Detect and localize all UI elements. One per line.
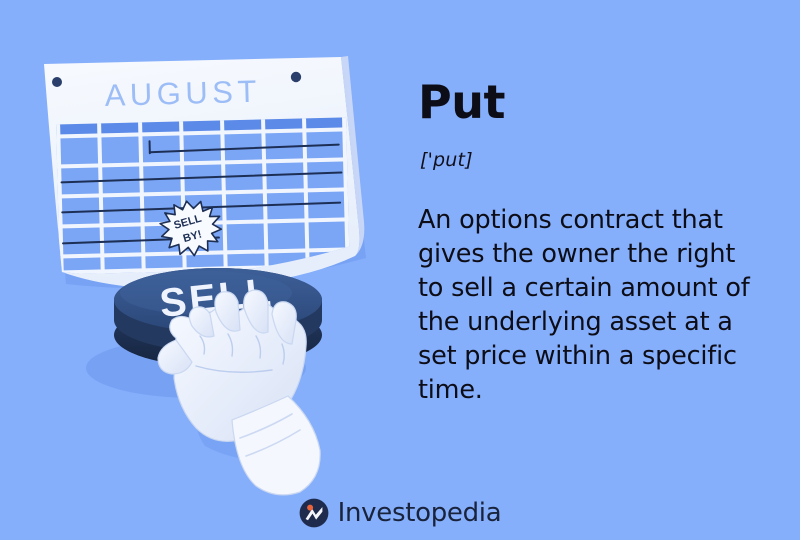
calendar-hole-right — [291, 72, 301, 82]
brand-wordmark: Investopedia — [338, 500, 502, 526]
calendar-hole-left — [52, 77, 62, 87]
brand-footer[interactable]: Investopedia — [0, 498, 800, 528]
hand-pressing-button — [158, 290, 320, 495]
page-title: Put — [418, 78, 768, 126]
definition-card: AUGUST — [0, 0, 800, 540]
calendar: AUGUST — [44, 56, 364, 289]
calendar-grid — [56, 117, 350, 274]
investopedia-logo-icon — [299, 498, 329, 528]
term-definition: An options contract that gives the owner… — [418, 204, 762, 407]
definition-panel: Put ['put] An options contract that give… — [418, 78, 768, 408]
term-pronunciation: ['put] — [420, 149, 768, 171]
calendar-month-label: AUGUST — [104, 74, 261, 113]
illustration-artwork: AUGUST — [0, 0, 400, 500]
